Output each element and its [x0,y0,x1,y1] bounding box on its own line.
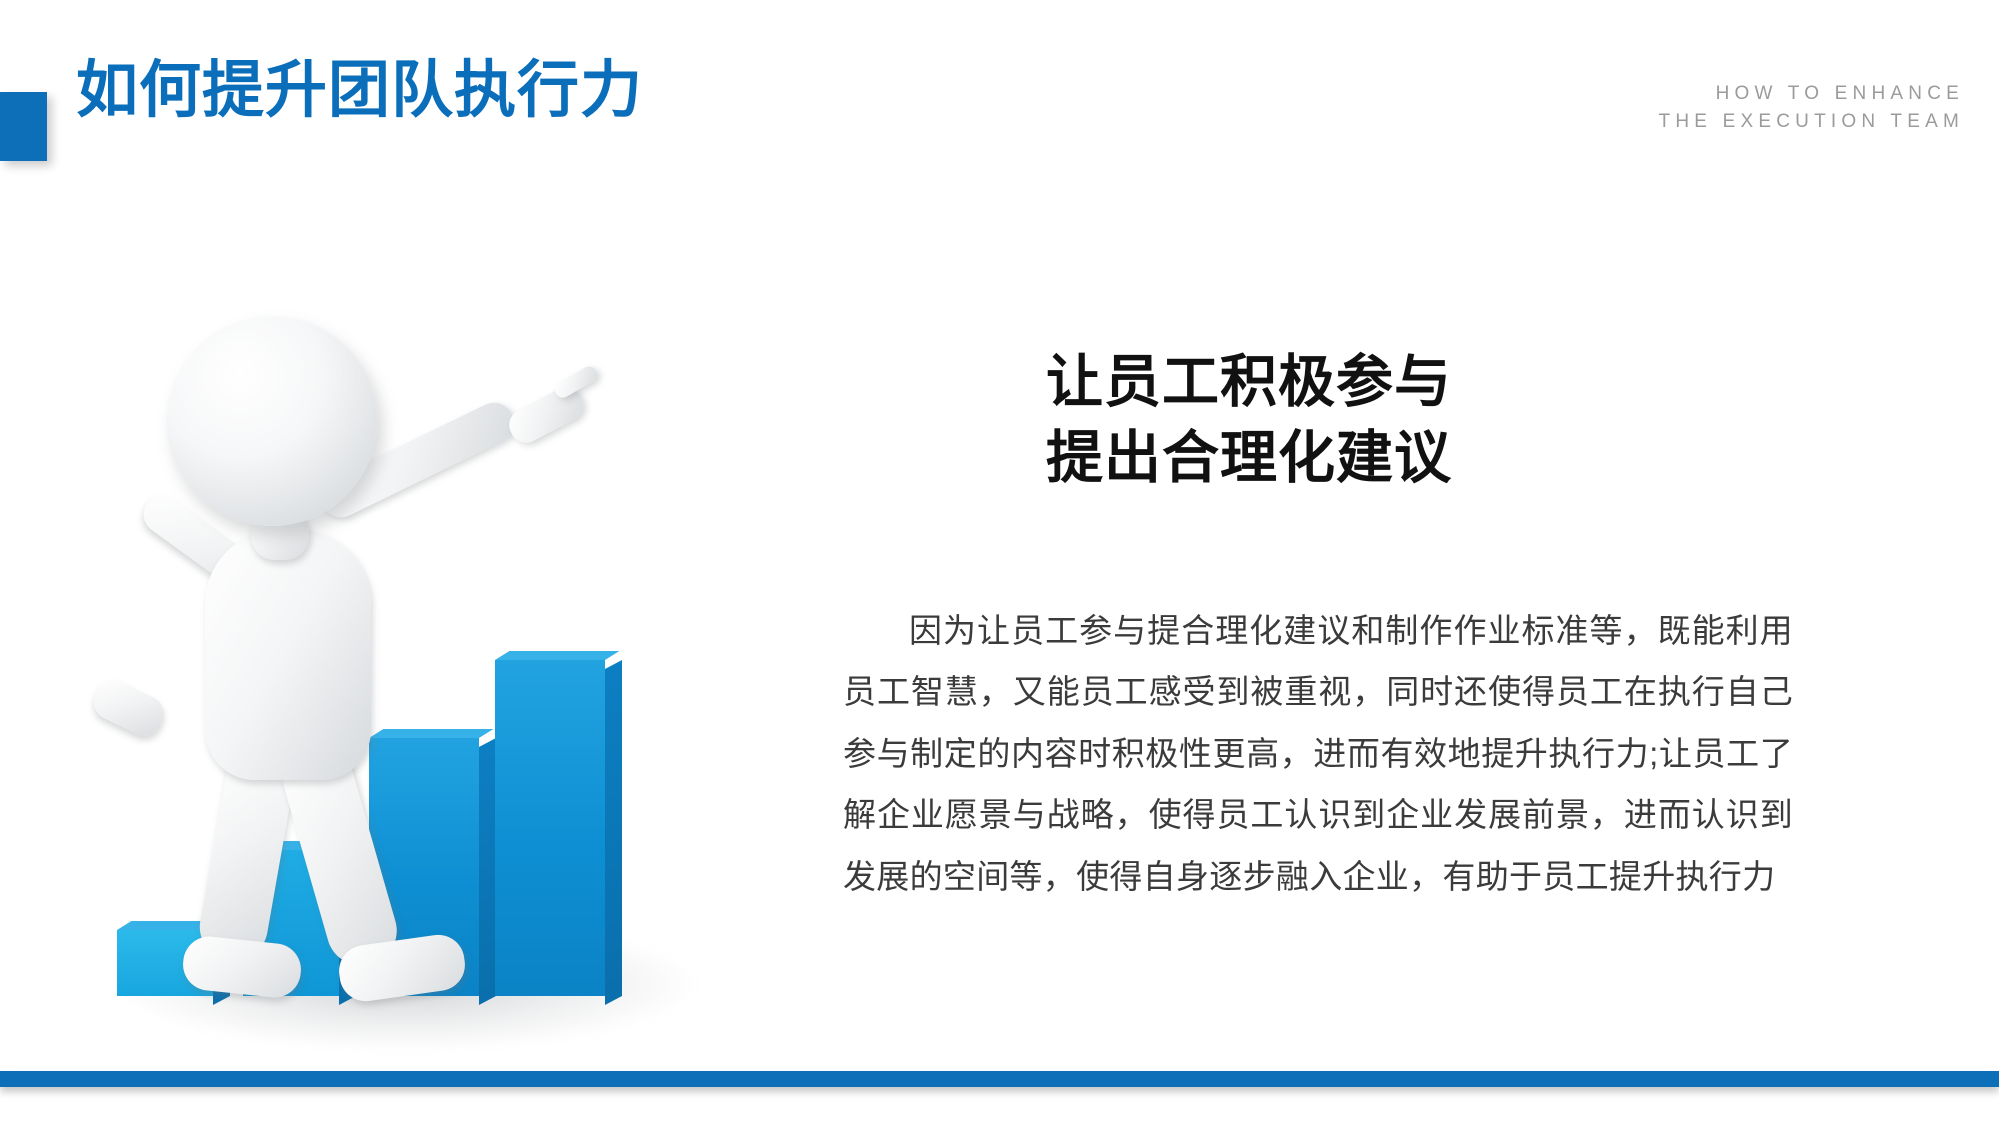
content-heading-line-2: 提出合理化建议 [1046,421,1452,497]
figure-left-foot [181,934,304,1000]
figure-right-hand [504,382,589,449]
mannequin-figure-icon [55,290,775,1030]
header-subtitle-line-2: THE EXECUTION TEAM [1659,108,1964,136]
content-heading-line-1: 让员工积极参与 [1046,345,1452,421]
figure-head [167,316,377,526]
blue-footer-bar [0,1071,1999,1087]
figure-left-hand [88,674,170,742]
page-title: 如何提升团队执行力 [76,58,643,123]
content-heading: 让员工积极参与 提出合理化建议 [1046,345,1452,497]
header-english-subtitle: HOW TO ENHANCE THE EXECUTION TEAM [1659,80,1964,135]
header-subtitle-line-1: HOW TO ENHANCE [1659,80,1964,108]
blue-square-accent [0,92,47,161]
illustration-growth-figure [55,290,775,1030]
slide-root: 如何提升团队执行力 HOW TO ENHANCE THE EXECUTION T… [0,0,1999,1125]
figure-torso [205,530,371,780]
content-paragraph: 因为让员工参与提合理化建议和制作作业标准等，既能利用员工智慧，又能员工感受到被重… [843,600,1793,907]
